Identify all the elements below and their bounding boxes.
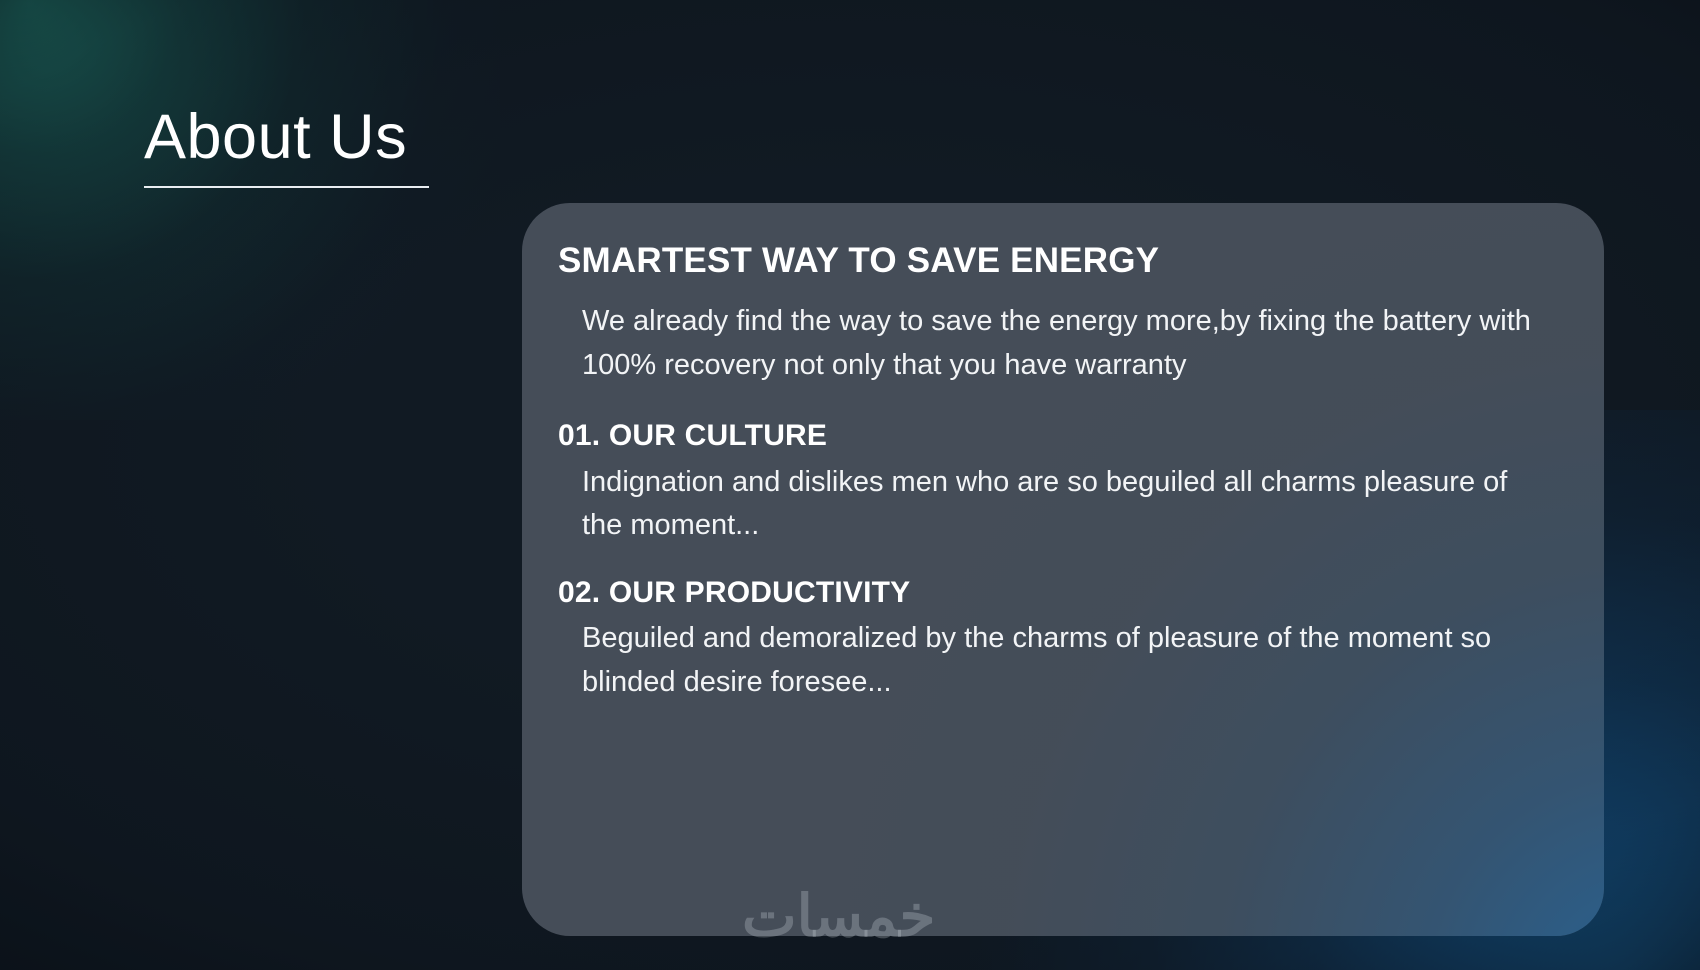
about-card: SMARTEST WAY TO SAVE ENERGY We already f…	[522, 203, 1604, 936]
section-body-our-productivity: Beguiled and demoralized by the charms o…	[558, 617, 1542, 704]
teal-glow-decoration	[0, 0, 500, 420]
page-title-block: About Us	[144, 104, 429, 188]
section-heading-our-productivity: 02. OUR PRODUCTIVITY	[558, 574, 1564, 612]
card-content: SMARTEST WAY TO SAVE ENERGY We already f…	[522, 203, 1604, 704]
spacer	[558, 548, 1564, 574]
title-underline	[144, 186, 429, 188]
card-heading: SMARTEST WAY TO SAVE ENERGY	[558, 240, 1564, 282]
section-heading-our-culture: 01. OUR CULTURE	[558, 417, 1564, 455]
spacer	[558, 387, 1564, 417]
section-body-our-culture: Indignation and dislikes men who are so …	[558, 461, 1542, 548]
card-intro-paragraph: We already find the way to save the ener…	[558, 300, 1542, 387]
slide-canvas: About Us SMARTEST WAY TO SAVE ENERGY We …	[0, 0, 1700, 970]
page-title: About Us	[144, 104, 429, 170]
